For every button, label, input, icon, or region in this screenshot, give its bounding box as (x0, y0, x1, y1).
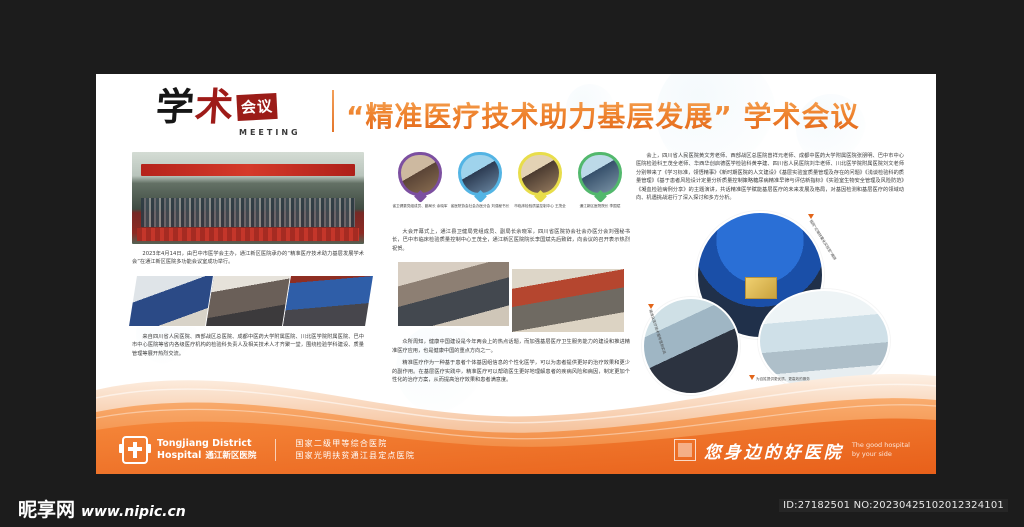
hospital-name-block: Tongjiang District Hospital 通江新区医院 (157, 438, 256, 461)
hospital-name-cn: 通江新区医院 (205, 451, 256, 461)
poster-footer: Tongjiang District Hospital 通江新区医院 国家二级甲… (96, 426, 936, 474)
screenshot-stage: 学 术 会议 MEETING “精准医疗技术助力基层发展” 学术会议 2023年… (0, 0, 1024, 527)
footer-divider (275, 439, 276, 461)
auditorium-audience-photo (282, 275, 374, 327)
attendees-side-row-photo (510, 267, 626, 334)
slogan-group: 您身边的好医院 The good hospital by your side (674, 438, 910, 463)
award-plaque-icon (745, 277, 777, 299)
speaker-avatar-1: 省卫健委党组成员、副局长 余晓军 (398, 152, 442, 196)
page-title: “精准医疗技术助力基层发展” 学术会议 (346, 95, 860, 135)
conference-group-photo (132, 152, 364, 244)
attendee-photo-pair (392, 260, 630, 334)
speaker-label-3: 市临床检验质量控制中心 王茂全 (510, 204, 570, 209)
right-paragraph-1: 会上，四川省人民医院黄文芳老师、西部战区总医院曾祥元老师、成都中医药大学附属医院… (636, 152, 904, 203)
slogan-en: The good hospital by your side (852, 441, 910, 459)
circle-photo-collage: 我院“近端转重化实验室”揭牌 精准化医疗技术服务落到实处 为百姓提供更优质、更高… (636, 211, 904, 361)
speaker-avatar-3: 市临床检验质量控制中心 王茂全 (518, 152, 562, 196)
poster-header: 学 术 会议 MEETING “精准医疗技术助力基层发展” 学术会议 (96, 74, 936, 146)
left-caption-1: 2023年4月14日，由巴中市医学会主办，通江新区医院承办的“精准医疗技术助力基… (132, 250, 364, 267)
speaker-label-1: 省卫健委党组成员、副局长 余晓军 (390, 204, 450, 209)
hospital-logo-group: Tongjiang District Hospital 通江新区医院 国家二级甲… (122, 436, 415, 464)
right-column: 会上，四川省人民医院黄文芳老师、西部战区总医院曾祥元老师、成都中医药大学附属医院… (636, 152, 904, 361)
red-banner (141, 164, 354, 176)
watermark-brand: 昵享网 www.nipic.cn (18, 495, 186, 522)
slogan-square-icon (674, 439, 696, 461)
slogan-cn: 您身边的好医院 (704, 438, 844, 463)
left-column: 2023年4月14日，由巴中市医学会主办，通江新区医院承办的“精准医疗技术助力基… (132, 152, 364, 358)
speaker-avatar-4: 通江新区医院院长 李国斌 (578, 152, 622, 196)
watermark-site-name: 昵享网 (18, 495, 75, 522)
watermark-bar: 昵享网 www.nipic.cn ID:27182501 NO:20230425… (0, 485, 1024, 527)
brush-char-2: 术 (194, 90, 233, 124)
hospital-name-en-line1: Tongjiang District (157, 438, 256, 450)
crowd-row (141, 198, 354, 227)
arc-marker-icon (808, 214, 814, 219)
thumbnail-photo-row (132, 275, 364, 327)
hospital-cross-logo-icon (122, 436, 148, 464)
credential-line-1: 国家二级甲等综合医院 (295, 438, 415, 450)
brush-calligraphy-title: 学 术 会议 (156, 90, 277, 124)
speaker-avatar-row: 省卫健委党组成员、副局长 余晓军 省医院协会社会办医分会 刘强秘书长 市临床检验… (392, 152, 630, 210)
mid-paragraph-1: 大会开幕式上，通江县卫健局党组成员、副局长余晓军，四川省医院协会社会办医分会刘强… (392, 228, 630, 253)
credential-line-2: 国家光明扶贫通江县定点医院 (295, 450, 415, 462)
attendees-front-row-photo (396, 260, 511, 328)
hospital-credentials: 国家二级甲等综合医院 国家光明扶贫通江县定点医院 (295, 438, 415, 462)
arc-marker-icon (648, 304, 654, 309)
watermark-site-url[interactable]: www.nipic.cn (81, 504, 186, 520)
brush-char-1: 学 (155, 90, 194, 124)
slogan-en-line1: The good hospital (852, 441, 910, 450)
speaker-label-4: 通江新区医院院长 李国斌 (570, 204, 630, 209)
red-carpet-row (137, 228, 360, 241)
hospital-name-en-line2: Hospital (157, 450, 201, 462)
slogan-en-line2: by your side (852, 450, 910, 459)
meeting-english-label: MEETING (239, 128, 301, 137)
poster-canvas: 学 术 会议 MEETING “精准医疗技术助力基层发展” 学术会议 2023年… (96, 74, 936, 474)
seal-stamp-label: 会议 (236, 93, 277, 121)
speaker-avatar-2: 省医院协会社会办医分会 刘强秘书长 (458, 152, 502, 196)
watermark-asset-id: ID:27182501 NO:20230425102012324101 (779, 499, 1008, 512)
header-divider (332, 90, 334, 132)
speaker-label-2: 省医院协会社会办医分会 刘强秘书长 (450, 204, 510, 209)
